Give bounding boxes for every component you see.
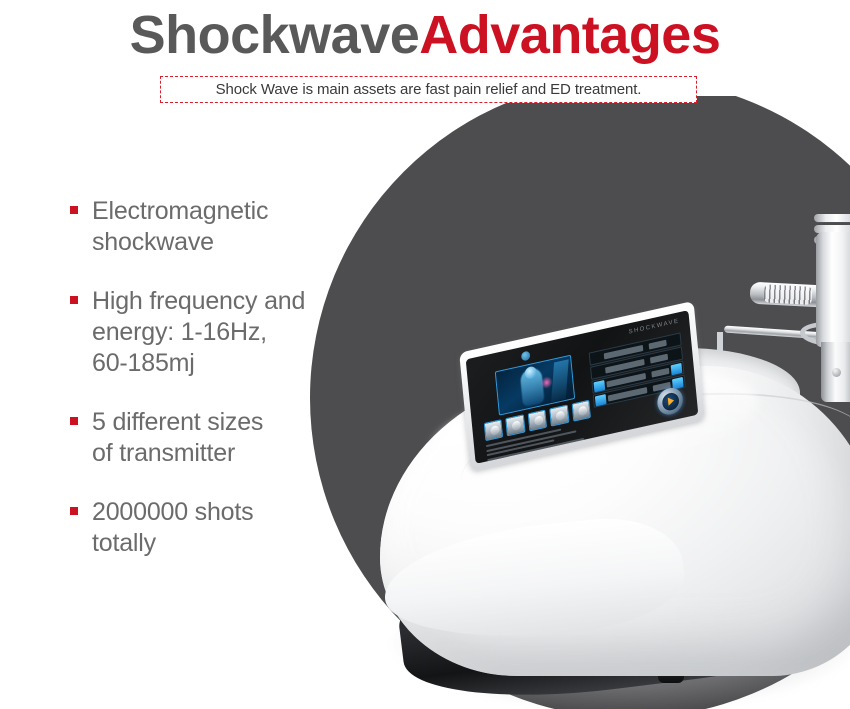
start-button-inner xyxy=(661,391,679,412)
bullet-square-icon xyxy=(70,507,78,515)
parameter-value xyxy=(651,368,669,378)
transmitter-icon[interactable] xyxy=(571,400,591,422)
decrement-button[interactable] xyxy=(594,380,606,392)
feature-list: Electromagnetic shockwave High frequency… xyxy=(70,196,380,559)
list-item: 5 different sizes of transmitter xyxy=(70,407,380,469)
shockwave-handpiece xyxy=(810,214,850,389)
feature-text: Electromagnetic shockwave xyxy=(92,197,268,256)
anatomy-stripe xyxy=(551,359,569,402)
poster-canvas: ShockwaveAdvantages Shock Wave is main a… xyxy=(0,0,850,709)
transmitter-icon[interactable] xyxy=(506,414,526,436)
increment-button[interactable] xyxy=(671,363,683,375)
parameter-value xyxy=(650,354,668,364)
title-main-word: Shockwave xyxy=(130,5,420,65)
transmitter-icon[interactable] xyxy=(549,405,569,427)
feature-text: High frequency and energy: 1-16Hz, 60-18… xyxy=(92,287,305,377)
transmitter-icon[interactable] xyxy=(528,409,548,431)
page-title: ShockwaveAdvantages xyxy=(0,8,850,62)
list-item: High frequency and energy: 1-16Hz, 60-18… xyxy=(70,286,380,379)
handpiece-ring xyxy=(814,214,850,222)
bullet-square-icon xyxy=(70,206,78,214)
handpiece-body xyxy=(816,232,850,347)
bullet-square-icon xyxy=(70,296,78,304)
feature-text: 5 different sizes of transmitter xyxy=(92,408,263,467)
list-item: Electromagnetic shockwave xyxy=(70,196,380,258)
parameter-label xyxy=(608,387,648,402)
list-item: 2000000 shots totally xyxy=(70,497,380,559)
subtitle-callout-box: Shock Wave is main assets are fast pain … xyxy=(160,76,697,103)
transmitter-icon[interactable] xyxy=(484,419,504,441)
title-accent-word: Advantages xyxy=(419,5,720,65)
play-arrow-icon xyxy=(668,396,675,405)
subtitle-text: Shock Wave is main assets are fast pain … xyxy=(216,81,642,98)
parameter-value xyxy=(649,340,667,350)
feature-text: 2000000 shots totally xyxy=(92,498,253,557)
screen-brand-label: SHOCKWAVE xyxy=(628,318,679,335)
bullet-square-icon xyxy=(70,417,78,425)
decrement-button[interactable] xyxy=(595,394,607,406)
screen-logo-icon xyxy=(521,350,531,361)
handpiece-screw xyxy=(832,368,841,377)
